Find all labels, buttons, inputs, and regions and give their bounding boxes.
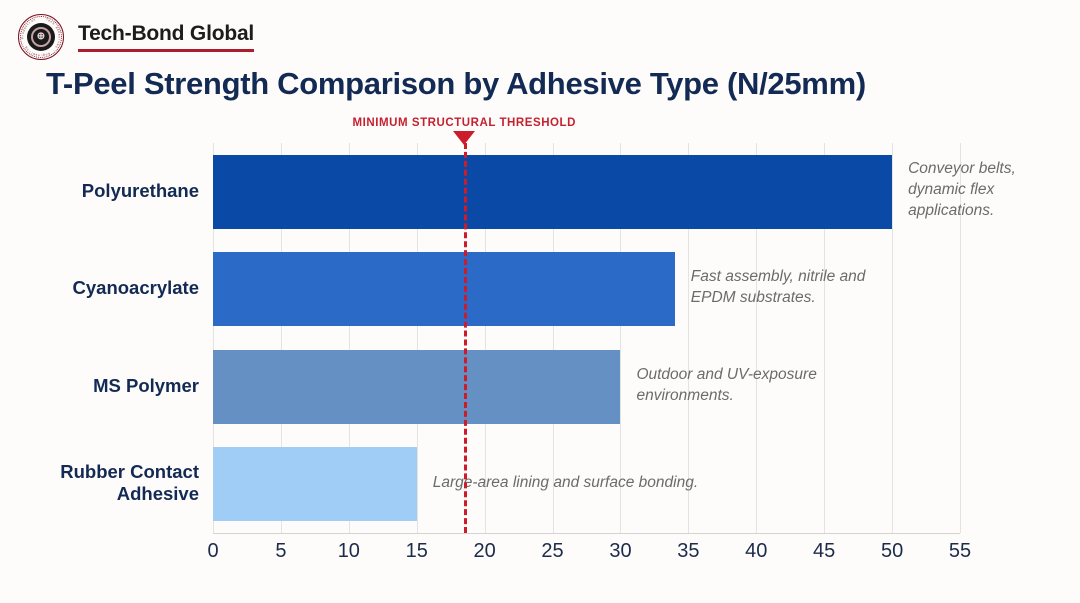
x-tick-label: 45: [813, 540, 835, 563]
x-tick-label: 5: [275, 540, 286, 563]
bar-annotation: Fast assembly, nitrile and EPDM substrat…: [691, 267, 866, 309]
x-tick-label: 50: [881, 540, 903, 563]
bar-annotation: Large-area lining and surface bonding.: [433, 473, 698, 494]
bar-cyanoacrylate[interactable]: [213, 252, 675, 326]
bar-annotation: Conveyor belts, dynamic flex application…: [908, 159, 1016, 222]
category-label: Polyurethane: [82, 180, 199, 202]
threshold-line: [464, 143, 467, 533]
bar-polyurethane[interactable]: [213, 155, 892, 229]
x-tick-label: 30: [609, 540, 631, 563]
threshold-label: MINIMUM STRUCTURAL THRESHOLD: [353, 117, 576, 129]
x-tick-label: 15: [406, 540, 428, 563]
x-tick-label: 40: [745, 540, 767, 563]
x-tick-label: 10: [338, 540, 360, 563]
x-tick-label: 0: [207, 540, 218, 563]
category-label: Rubber Contact Adhesive: [60, 461, 199, 505]
bar-ms-polymer[interactable]: [213, 350, 620, 424]
category-label: Cyanoacrylate: [73, 277, 199, 299]
threshold-marker-icon: [453, 131, 475, 145]
x-tick-label: 55: [949, 540, 971, 563]
bar-chart: Conveyor belts, dynamic flex application…: [0, 0, 1080, 603]
x-tick-label: 20: [474, 540, 496, 563]
bar-row: [213, 155, 960, 229]
x-tick-label: 35: [677, 540, 699, 563]
bar-annotation: Outdoor and UV-exposure environments.: [636, 365, 816, 407]
bar-row: [213, 350, 960, 424]
x-tick-label: 25: [541, 540, 563, 563]
bar-rubber-contact-adhesive[interactable]: [213, 447, 417, 521]
category-label: MS Polymer: [93, 375, 199, 397]
